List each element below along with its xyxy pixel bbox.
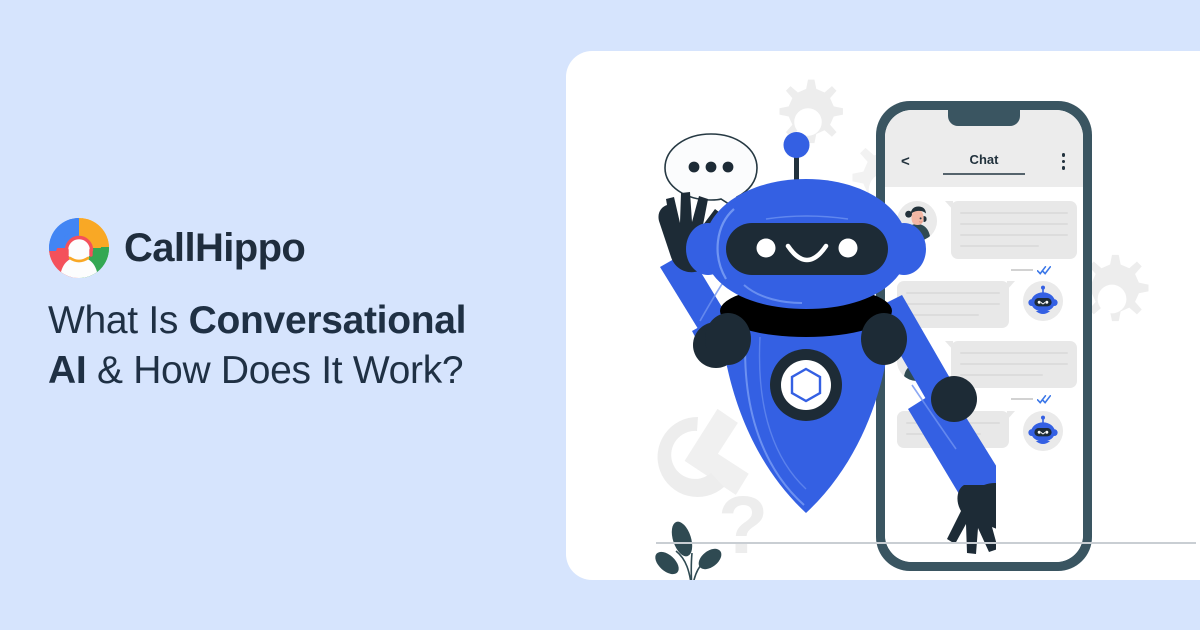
headline-segment-2: Conversational <box>189 299 467 342</box>
kebab-menu-icon[interactable] <box>1062 153 1066 170</box>
brand-name: CallHippo <box>124 228 305 268</box>
page-title: What Is Conversational AI & How Does It … <box>48 296 518 396</box>
robot-right-shoulder <box>861 313 907 365</box>
callhippo-circle-headset-logo <box>48 217 110 279</box>
left-text-panel: CallHippo What Is Conversational AI & Ho… <box>0 0 540 630</box>
waving-chatbot-robot <box>616 113 996 580</box>
status-badge <box>1011 394 1051 404</box>
double-check-icon <box>1037 265 1051 275</box>
robot-eye-right <box>839 239 858 258</box>
status-badge <box>1011 265 1051 275</box>
robot-head <box>686 132 926 309</box>
robot-avatar[interactable] <box>1023 281 1063 321</box>
headline-segment-3: AI <box>48 349 86 392</box>
robot-body <box>705 285 907 513</box>
headline-segment-1: What Is <box>48 299 189 342</box>
illustration-card: ? < Chat <box>566 51 1200 580</box>
robot-avatar[interactable] <box>1023 411 1063 451</box>
receipt-dash <box>1011 269 1033 271</box>
robot-eye-left <box>757 239 776 258</box>
double-check-icon <box>1037 394 1051 404</box>
robot-left-shoulder <box>705 313 751 365</box>
receipt-dash <box>1011 398 1033 400</box>
ground-line <box>656 542 1196 544</box>
smiling-visor-face <box>726 223 888 275</box>
brand-lockup: CallHippo <box>48 217 305 279</box>
hexagon-emblem <box>770 349 842 421</box>
headline-segment-4: & How Does It Work? <box>86 349 463 392</box>
